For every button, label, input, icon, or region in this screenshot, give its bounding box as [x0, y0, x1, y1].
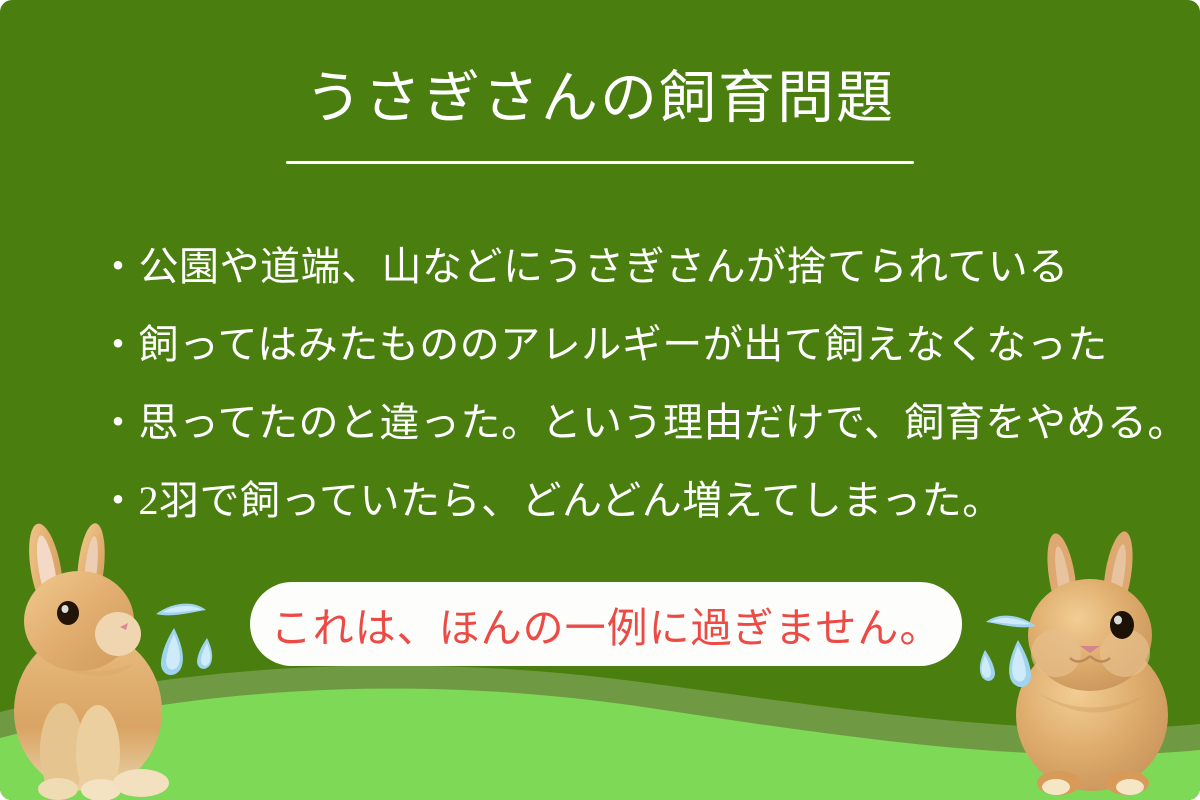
title-block: うさぎさんの飼育問題 [0, 66, 1200, 132]
sweat-drops-icon [960, 612, 1040, 702]
callout-pill: これは、ほんの一例に過ぎません。 [250, 582, 962, 666]
page-title: うさぎさんの飼育問題 [0, 66, 1200, 132]
list-item: ・飼ってはみたもののアレルギーが出て飼えなくなった [98, 306, 1158, 384]
poster-canvas: うさぎさんの飼育問題 ・公園や道端、山などにうさぎさんが捨てられている ・飼って… [0, 0, 1200, 800]
sweat-drops-icon [152, 600, 232, 690]
title-divider [286, 161, 914, 164]
callout-text: これは、ほんの一例に過ぎません。 [271, 594, 942, 654]
list-item: ・思ってたのと違った。という理由だけで、飼育をやめる。 [98, 384, 1158, 462]
list-item: ・公園や道端、山などにうさぎさんが捨てられている [98, 228, 1158, 306]
issue-list: ・公園や道端、山などにうさぎさんが捨てられている ・飼ってはみたもののアレルギー… [98, 228, 1158, 540]
